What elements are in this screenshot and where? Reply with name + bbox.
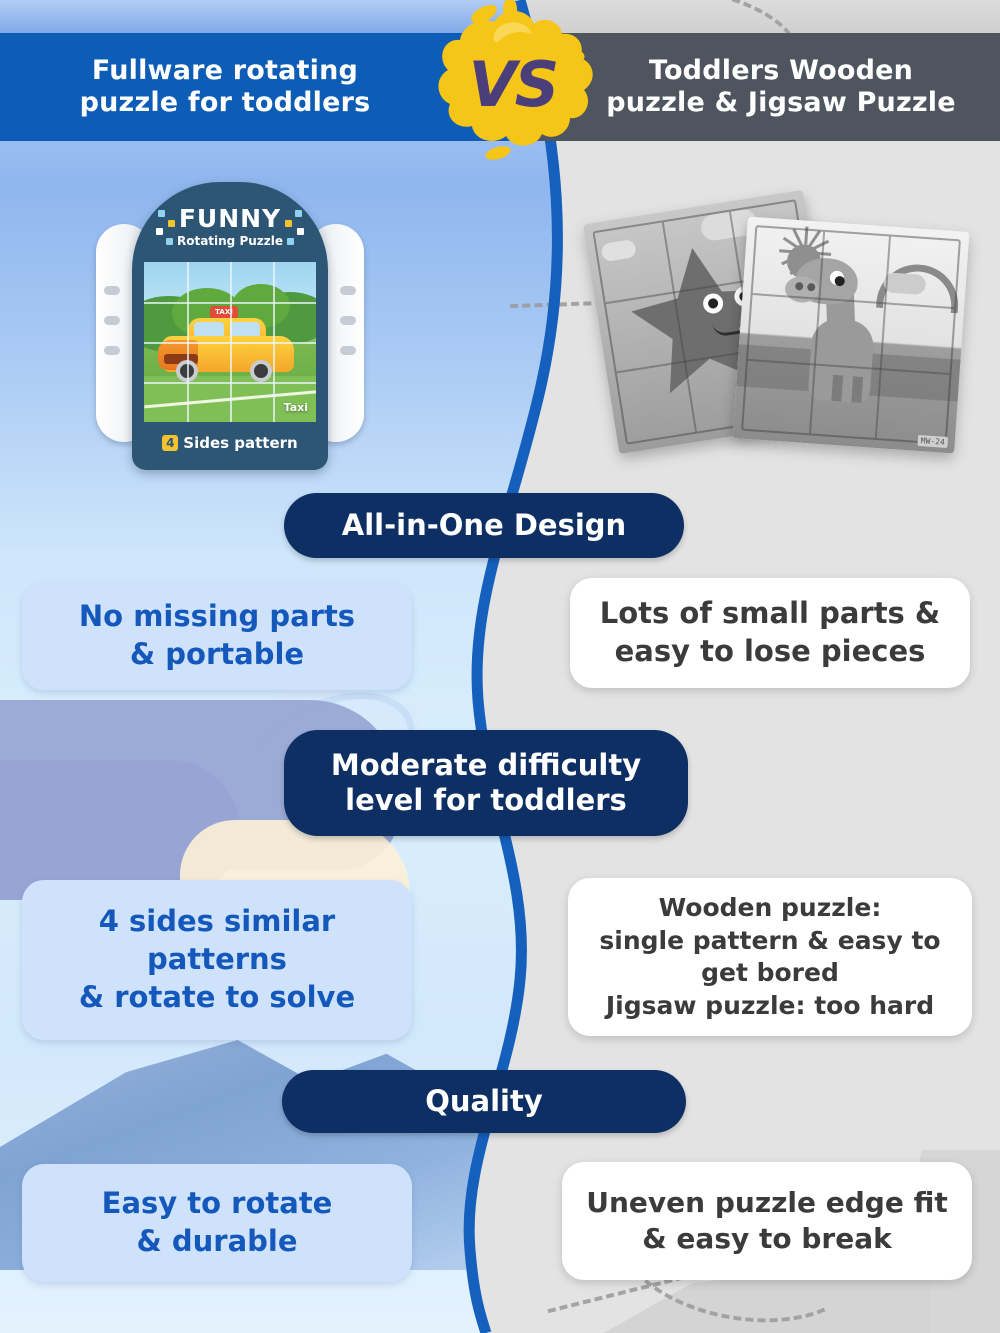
puzzle-grid-lines — [144, 262, 316, 422]
versus-badge: VS — [424, 0, 600, 160]
puzzle-code-label: MW-24 — [917, 435, 948, 448]
pixel-dot-icon — [287, 238, 294, 245]
category-badge-all-in-one: All-in-One Design — [284, 493, 684, 558]
puzzle-screen: TAXI Taxi — [144, 262, 316, 422]
pixel-dot-icon — [166, 238, 173, 245]
theirs-card-2: Wooden puzzle: single pattern & easy to … — [568, 878, 972, 1036]
category-badge-difficulty: Moderate difficulty level for toddlers — [284, 730, 688, 836]
competitor-image: MW-24 — [592, 190, 992, 480]
sides-count-badge: 4 — [162, 435, 178, 451]
pixel-dot-icon — [295, 210, 302, 217]
pixel-dot-icon — [168, 220, 175, 227]
theirs-card-1: Lots of small parts & easy to lose piece… — [570, 578, 970, 688]
pixel-dot-icon — [285, 220, 292, 227]
ours-card-2: 4 sides similar patterns & rotate to sol… — [22, 880, 412, 1040]
pixel-dot-icon — [297, 228, 304, 235]
infographic-canvas: Fullware rotating puzzle for toddlers To… — [0, 0, 1000, 1333]
ours-card-3: Easy to rotate & durable — [22, 1164, 412, 1282]
brand-tagline: Rotating Puzzle — [132, 234, 328, 248]
category-badge-quality: Quality — [282, 1070, 686, 1133]
pixel-dot-icon — [156, 228, 163, 235]
ours-card-1: No missing parts & portable — [22, 582, 412, 690]
puzzle-piece-lines — [743, 227, 959, 443]
product-body: FUNNY Rotating Puzzle TAXI — [132, 182, 328, 470]
product-footer-bar: 4 Sides pattern — [144, 426, 316, 460]
product-image: FUNNY Rotating Puzzle TAXI — [96, 176, 364, 476]
versus-label: VS — [424, 0, 600, 160]
theirs-card-3: Uneven puzzle edge fit & easy to break — [562, 1162, 972, 1280]
pixel-dot-icon — [158, 210, 165, 217]
header-right-title: Toddlers Wooden puzzle & Jigsaw Puzzle — [564, 55, 956, 119]
sides-pattern-label: Sides pattern — [183, 434, 297, 452]
header-left-title: Fullware rotating puzzle for toddlers — [80, 55, 441, 119]
wooden-puzzle-giraffe: MW-24 — [733, 217, 970, 454]
